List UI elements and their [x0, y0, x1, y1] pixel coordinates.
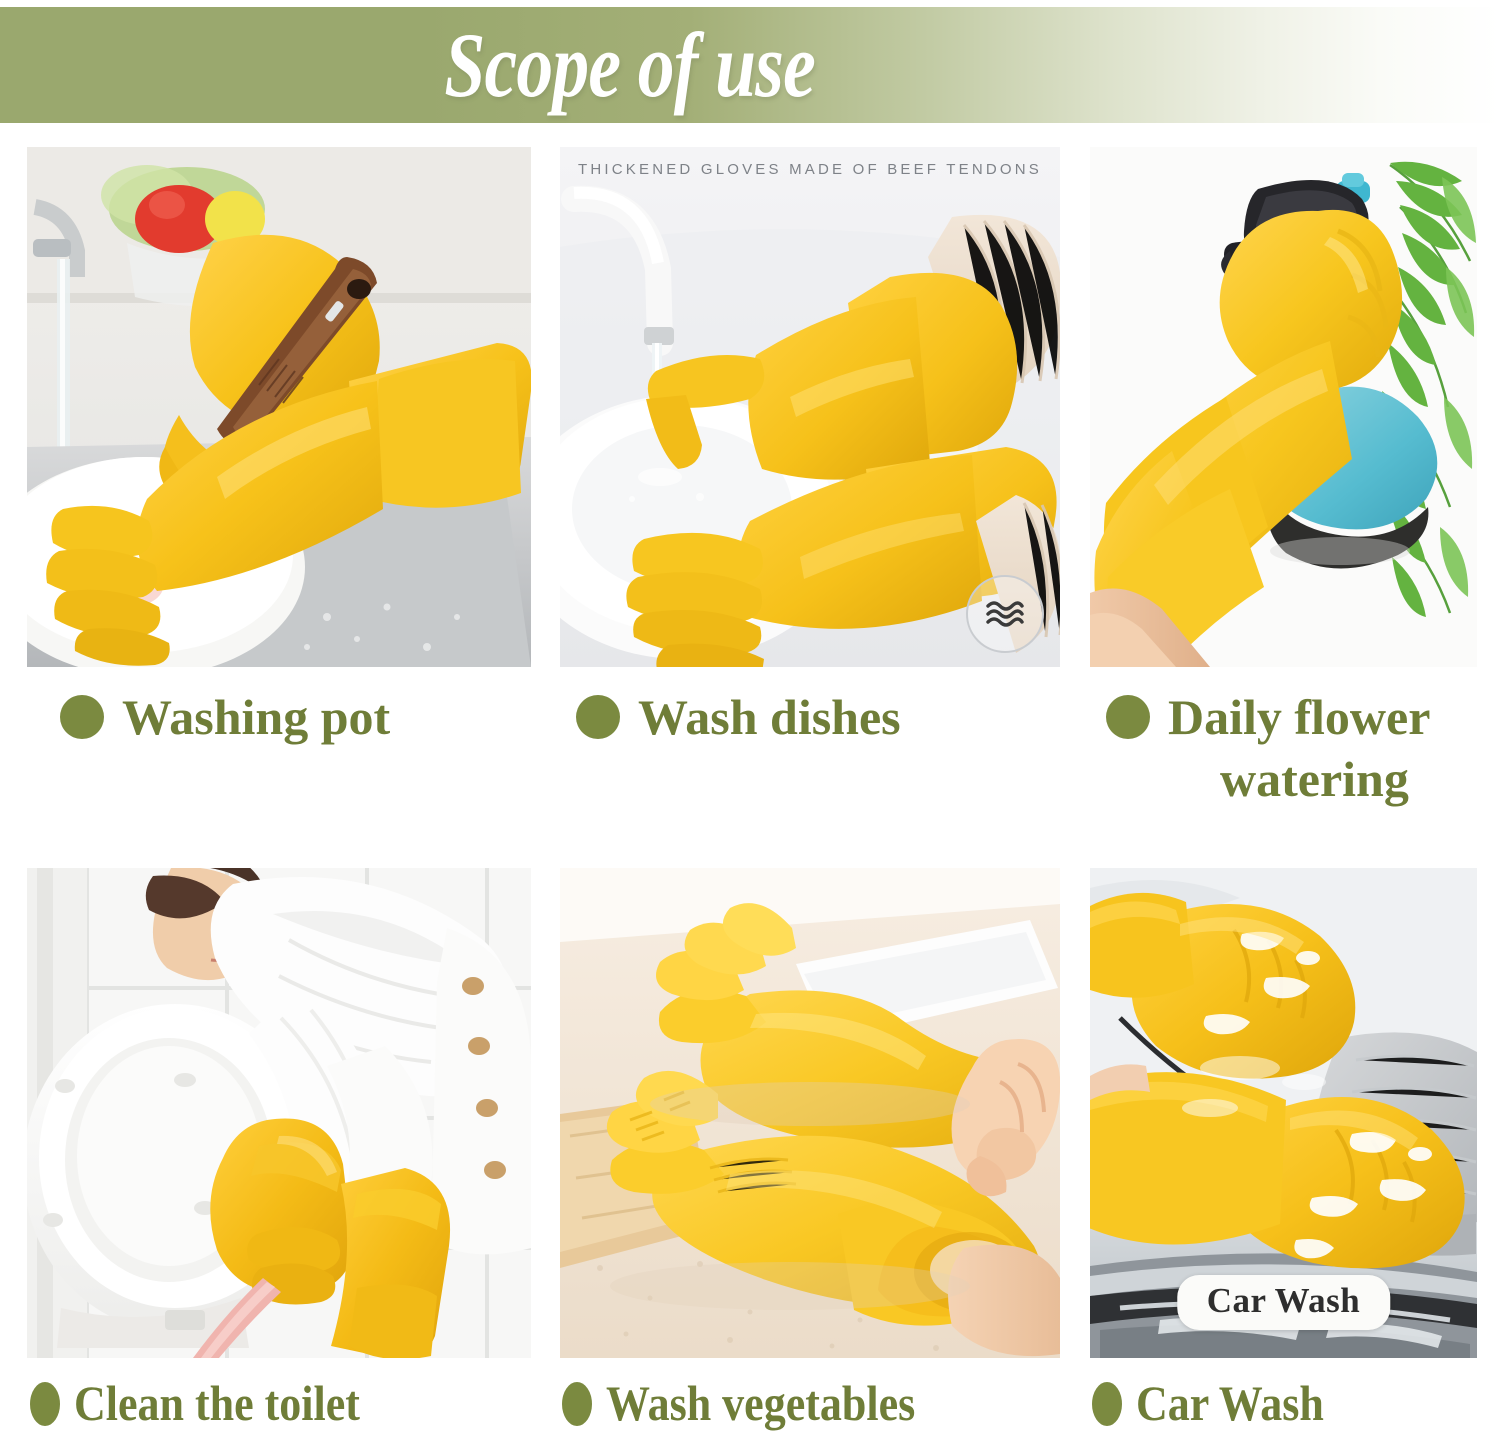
car-wash-badge-label: Car Wash: [1207, 1281, 1360, 1320]
caption-text: Clean the toilet: [74, 1376, 360, 1430]
photo-car-wash: Car Wash: [1090, 868, 1477, 1358]
header-banner: Scope of use: [0, 7, 1500, 123]
bullet-icon: [1092, 1382, 1122, 1426]
caption-text: Car Wash: [1136, 1376, 1324, 1430]
caption-daily-flower-watering: Daily flower watering: [1106, 686, 1500, 810]
cell-wash-dishes: THICKENED GLOVES MADE OF BEEF TENDONS: [560, 147, 1060, 667]
cell-car-wash: Car Wash: [1090, 868, 1477, 1358]
caption-text: Washing pot: [122, 686, 390, 748]
photo-daily-flower-watering: [1090, 147, 1477, 667]
car-wash-badge: Car Wash: [1177, 1275, 1390, 1330]
caption-car-wash: Car Wash: [1092, 1376, 1482, 1430]
photo-clean-the-toilet: [27, 868, 531, 1358]
caption-wash-dishes: Wash dishes: [576, 686, 1046, 748]
bullet-icon: [1106, 695, 1150, 739]
cell-daily-flower-watering: [1090, 147, 1477, 667]
caption-text: Wash vegetables: [606, 1376, 915, 1430]
caption-line-1: Daily flower: [1168, 689, 1430, 745]
caption-text: Wash dishes: [638, 686, 901, 748]
photo-washing-pot: [27, 147, 531, 667]
page-title: Scope of use: [445, 19, 1056, 111]
photo-wash-vegetables: [560, 868, 1060, 1358]
caption-clean-the-toilet: Clean the toilet: [30, 1376, 530, 1430]
bullet-icon: [60, 695, 104, 739]
bullet-icon: [30, 1382, 60, 1426]
caption-washing-pot: Washing pot: [60, 686, 530, 748]
cell-wash-vegetables: [560, 868, 1060, 1358]
caption-line-2: watering: [1168, 748, 1430, 810]
cell-washing-pot: [27, 147, 531, 667]
caption-text: Daily flower watering: [1168, 686, 1430, 810]
water-wave-icon: [966, 575, 1044, 653]
bullet-icon: [562, 1382, 592, 1426]
watermark-text: THICKENED GLOVES MADE OF BEEF TENDONS: [560, 161, 1060, 178]
caption-wash-vegetables: Wash vegetables: [562, 1376, 1062, 1430]
bullet-icon: [576, 695, 620, 739]
photo-wash-dishes: THICKENED GLOVES MADE OF BEEF TENDONS: [560, 147, 1060, 667]
cell-clean-the-toilet: [27, 868, 531, 1358]
